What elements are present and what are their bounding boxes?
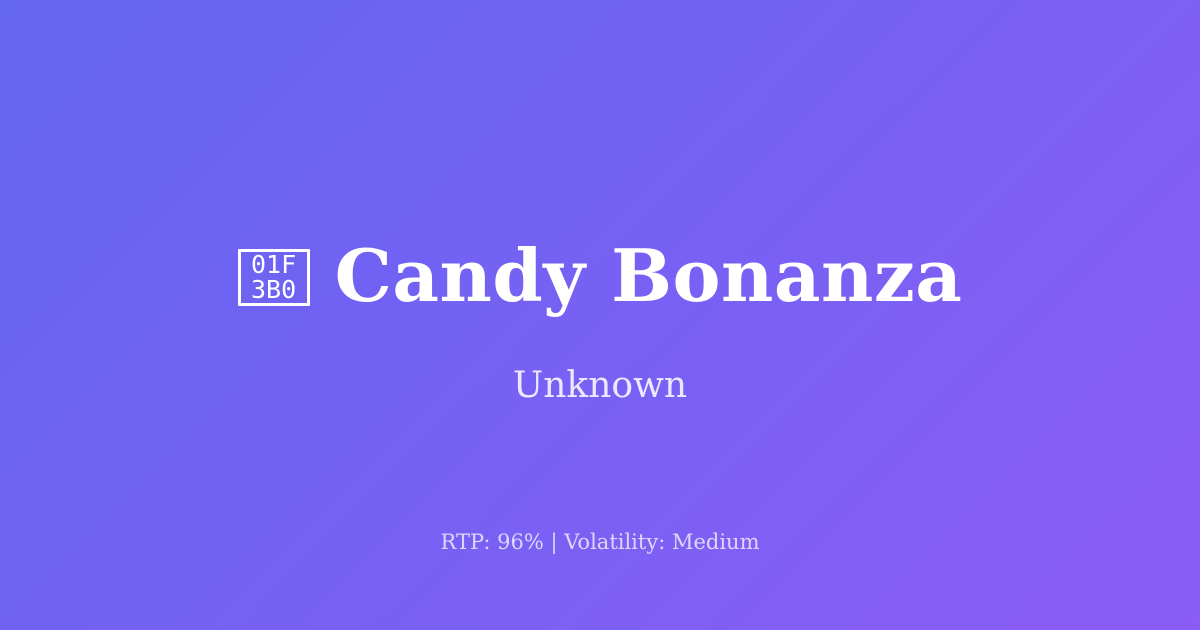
og-card: 01F 3B0 Candy Bonanza Unknown RTP: 96% |… [0,0,1200,630]
tofu-codepoint-low: 3B0 [251,277,296,302]
slot-machine-icon: 01F 3B0 [238,249,310,306]
provider-name: Unknown [0,363,1200,409]
title-row: 01F 3B0 Candy Bonanza [0,232,1200,320]
game-stats: RTP: 96% | Volatility: Medium [0,528,1200,556]
game-title: Candy Bonanza [335,236,963,316]
tofu-codepoint-high: 01F [251,252,296,277]
